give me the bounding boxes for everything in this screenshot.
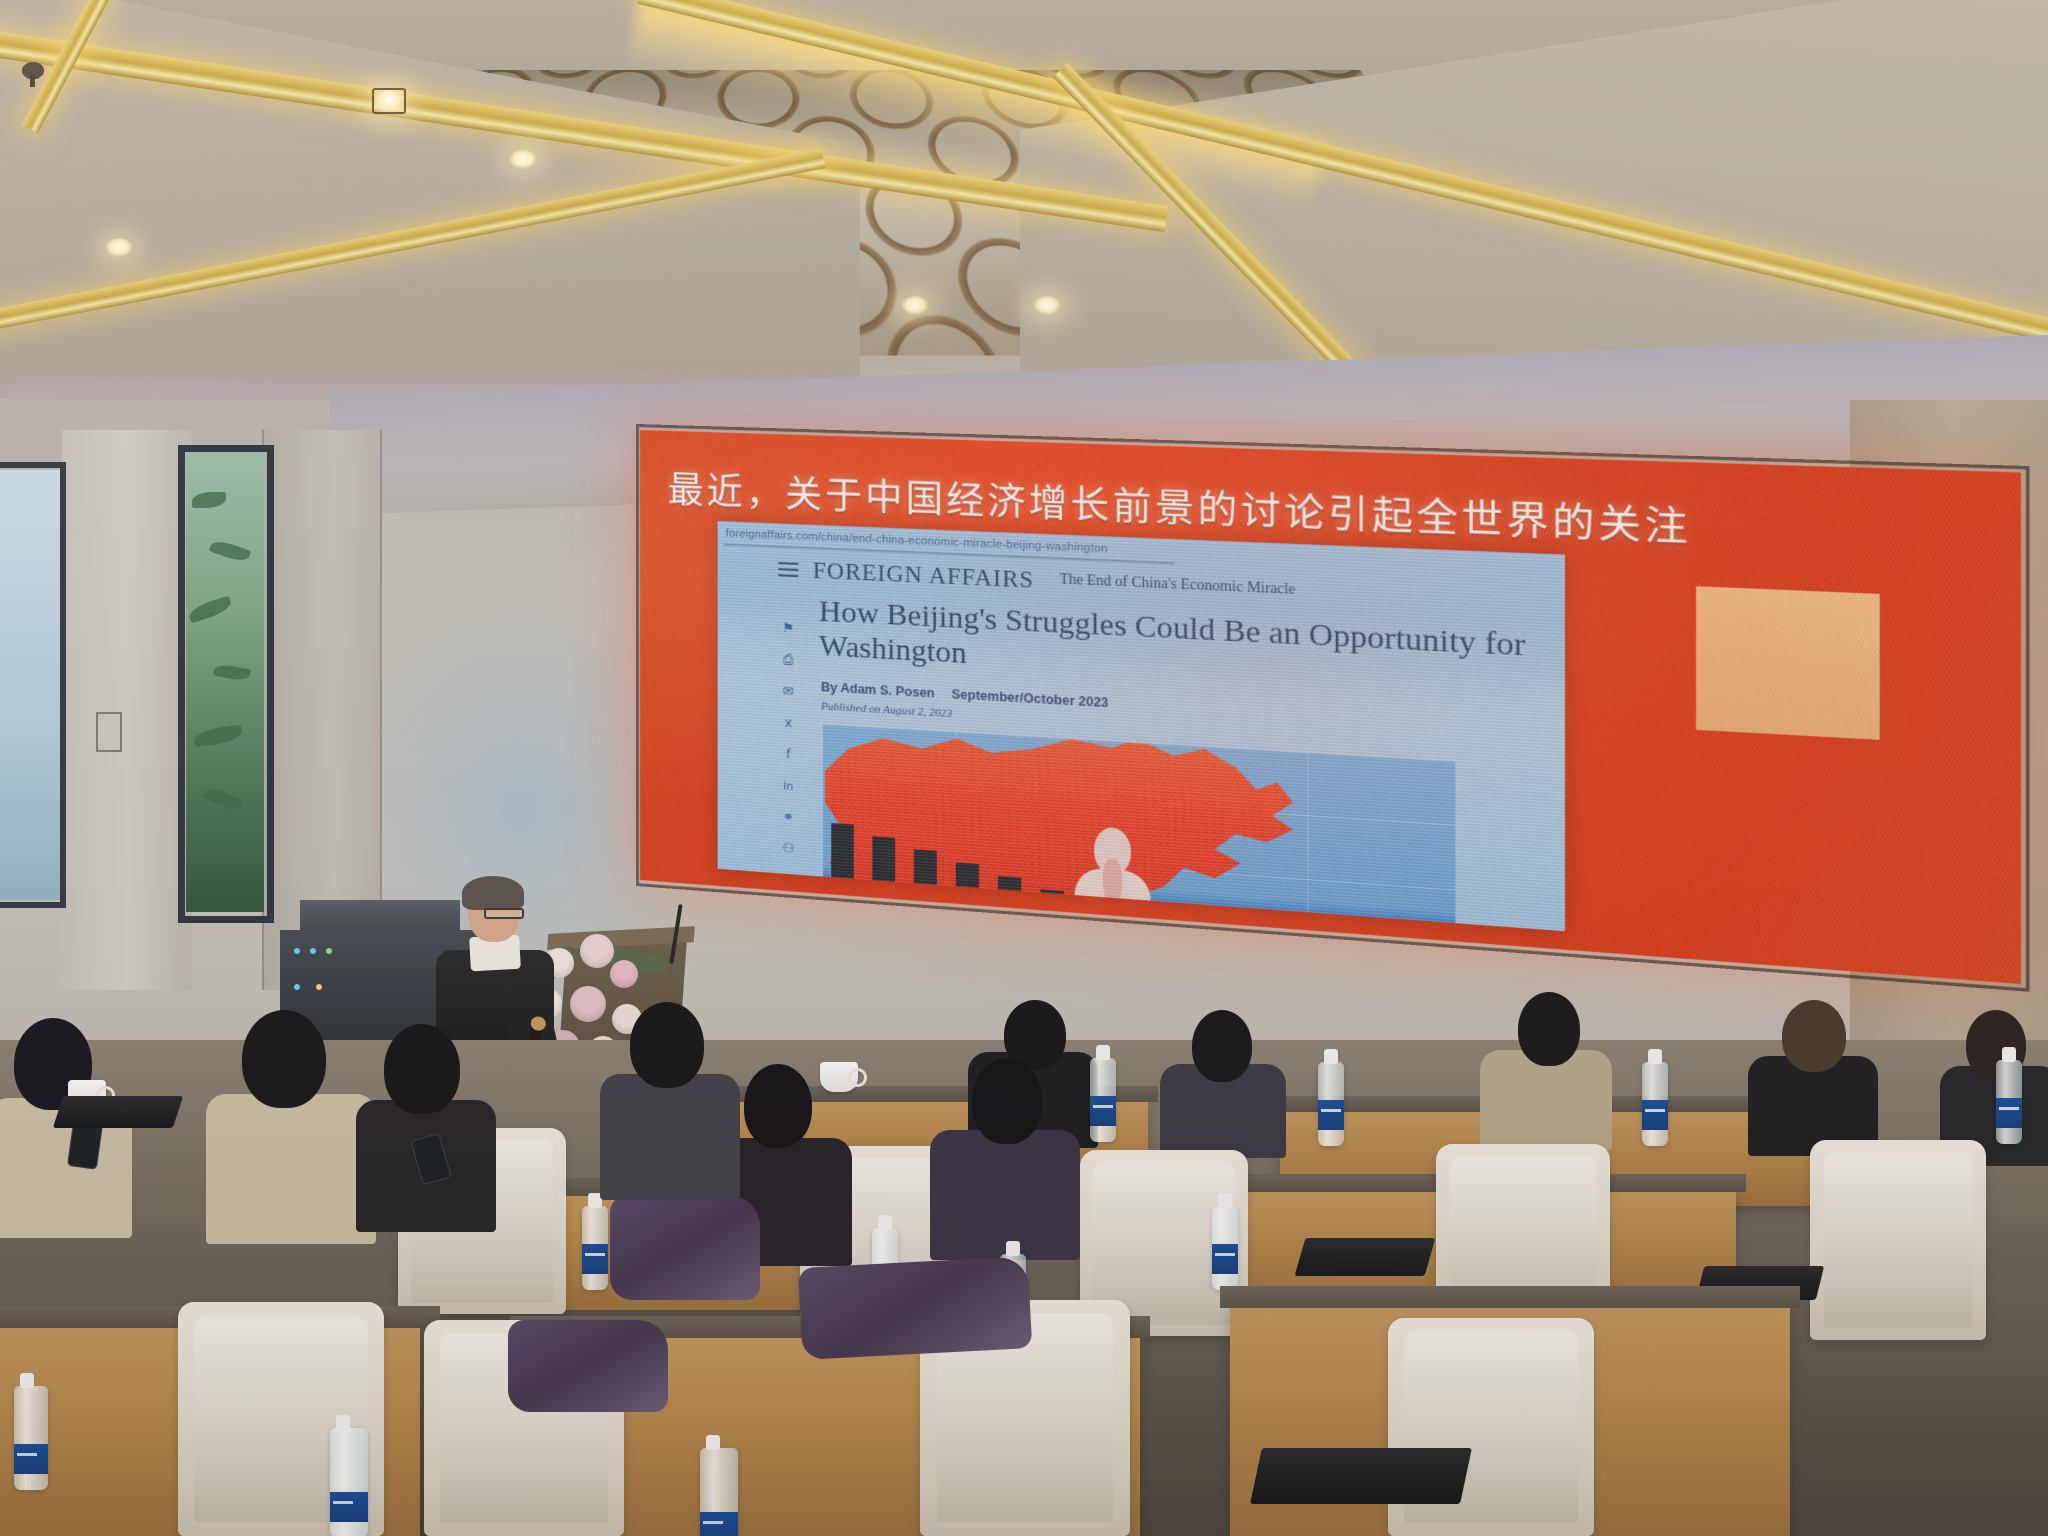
document-folder xyxy=(1250,1448,1472,1504)
print-icon[interactable]: ⎙ xyxy=(780,652,796,669)
email-icon[interactable]: ✉ xyxy=(780,684,796,701)
audience-member xyxy=(356,1024,496,1214)
conference-room-photo: 最近，关于中国经济增长前景的讨论引起全世界的关注 foreignaffairs.… xyxy=(0,0,2048,1536)
link-icon[interactable]: ⚭ xyxy=(780,809,796,826)
wall-outlet xyxy=(96,712,122,752)
article-published-date: Published on August 2, 2023 xyxy=(821,700,952,720)
slide-accent-note xyxy=(1696,586,1880,740)
recessed-downlight xyxy=(1032,296,1062,316)
chair[interactable] xyxy=(1810,1140,1986,1340)
water-bottle xyxy=(1996,1060,2022,1144)
audience-member xyxy=(206,1010,376,1230)
social-share-rail: ⚑ ⎙ ✉ x f in ⚭ ⚇ xyxy=(780,621,802,874)
twitter-icon[interactable]: x xyxy=(780,715,796,732)
linkedin-icon[interactable]: in xyxy=(780,778,796,795)
water-bottle xyxy=(700,1448,738,1536)
document-folder xyxy=(53,1096,183,1128)
article-kicker: The End of China's Economic Miracle xyxy=(1060,572,1296,599)
eyeglasses-icon xyxy=(484,908,524,919)
cloth-bag xyxy=(610,1196,760,1300)
bookmark-icon[interactable]: ⚑ xyxy=(780,621,796,638)
sprinkler-head-icon xyxy=(22,62,44,78)
audience-member xyxy=(1940,1010,2048,1150)
article-author: By Adam S. Posen xyxy=(821,680,935,701)
audience-member xyxy=(600,1002,740,1182)
water-bottle xyxy=(330,1428,368,1536)
recessed-downlight xyxy=(372,88,406,114)
article-issue: September/October 2023 xyxy=(952,687,1109,710)
site-masthead: FOREIGN AFFAIRS xyxy=(813,557,1034,593)
wall-pillar xyxy=(62,430,192,990)
document-folder xyxy=(1295,1238,1436,1276)
cloth-bag xyxy=(508,1320,668,1412)
article-illustration xyxy=(823,725,1455,931)
hamburger-menu-icon[interactable] xyxy=(778,562,798,577)
comment-icon[interactable]: ⚇ xyxy=(780,841,796,858)
window-far-frame xyxy=(0,462,66,908)
water-bottle xyxy=(1318,1062,1344,1146)
recessed-downlight xyxy=(900,296,930,316)
water-bottle xyxy=(1642,1062,1668,1146)
recessed-downlight xyxy=(508,150,538,170)
water-bottle xyxy=(14,1386,48,1490)
article-screenshot: foreignaffairs.com/china/end-china-econo… xyxy=(718,521,1565,931)
audience-member xyxy=(930,1058,1080,1238)
facebook-icon[interactable]: f xyxy=(780,747,796,764)
water-bottle xyxy=(1212,1206,1238,1290)
audience-member xyxy=(1748,1000,1878,1140)
audience-member xyxy=(1160,1010,1286,1140)
water-bottle xyxy=(582,1206,608,1290)
cloth-bag xyxy=(798,1256,1032,1360)
audience-member xyxy=(1480,992,1612,1132)
table-top xyxy=(1220,1286,1800,1308)
water-bottle xyxy=(1090,1058,1116,1142)
window-frame xyxy=(178,445,274,923)
recessed-downlight xyxy=(104,238,134,258)
